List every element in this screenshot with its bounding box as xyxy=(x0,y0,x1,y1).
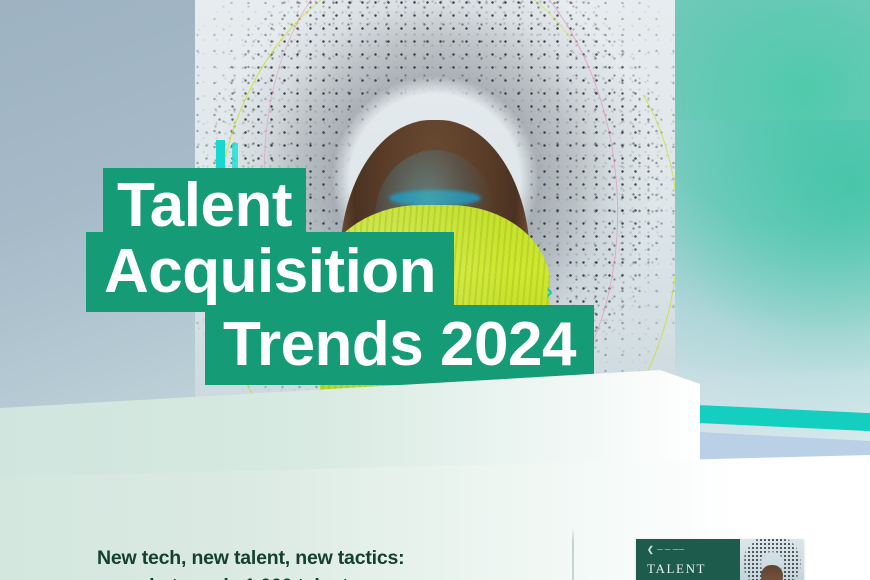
title-block-line-3: Trends 2024 xyxy=(205,305,594,385)
subtitle-line-2: see what nearly 1,000 talent xyxy=(97,573,537,580)
card-portrait-head xyxy=(761,565,783,580)
chevron-right-icon: › xyxy=(546,280,553,305)
card-logo: ❮ — — —— xyxy=(647,546,740,554)
report-thumbnail-card[interactable]: ❮ — — —— TALENT xyxy=(636,539,804,580)
card-logo-text: — — —— xyxy=(657,547,684,553)
card-title: TALENT xyxy=(647,561,740,577)
cyan-tick-icon-secondary xyxy=(232,143,238,170)
card-text-side: ❮ — — —— TALENT xyxy=(636,539,740,580)
subtitle-line-1: New tech, new talent, new tactics: xyxy=(97,547,404,569)
title-block-line-2: Acquisition xyxy=(86,232,454,312)
cover-page: › Talent Acquisition Trends 2024 New tec… xyxy=(0,0,870,580)
card-thumbnail-image xyxy=(740,539,804,580)
vertical-divider xyxy=(572,528,574,580)
logo-mark-icon: ❮ xyxy=(647,546,654,554)
subtitle: New tech, new talent, new tactics: see w… xyxy=(97,545,537,580)
cyan-tick-icon xyxy=(216,140,225,170)
portrait-eye-makeup xyxy=(389,190,481,206)
